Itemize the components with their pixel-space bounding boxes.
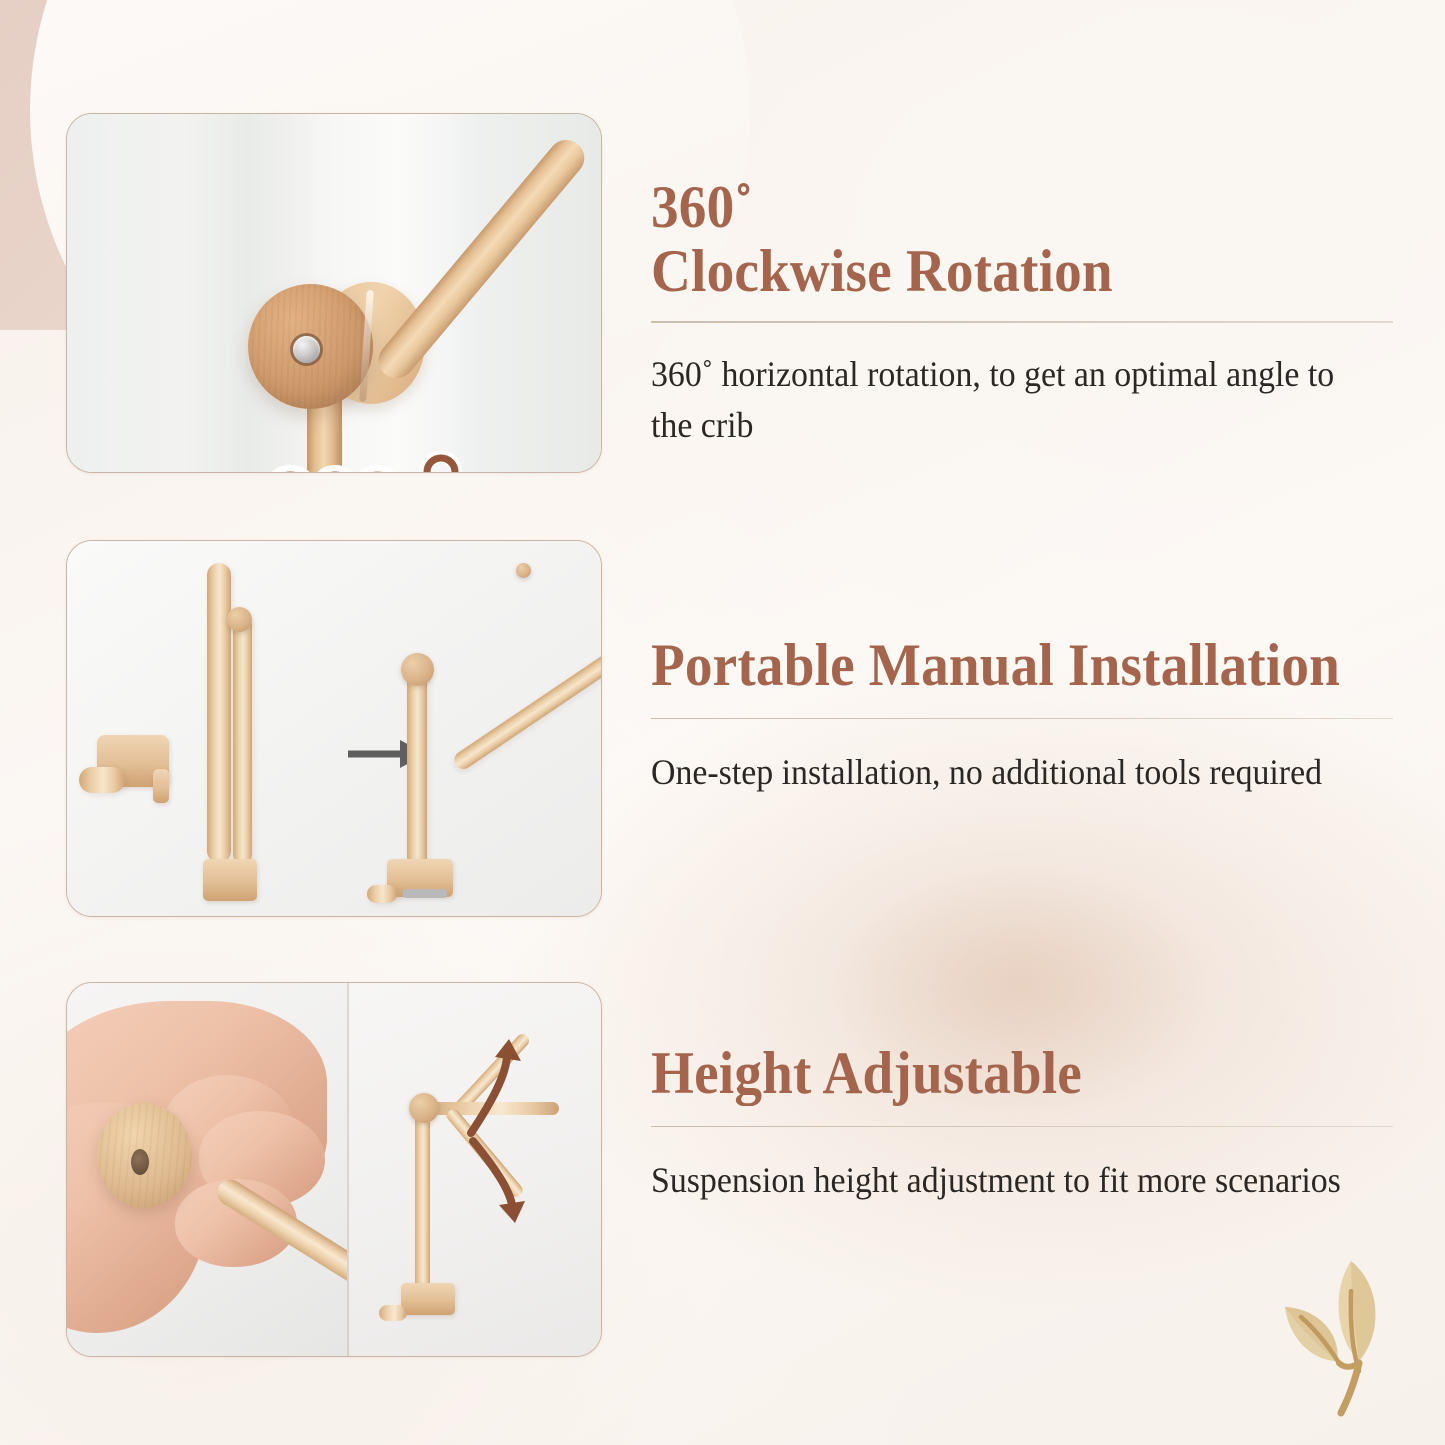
leaf-sprig-icon bbox=[1255, 1255, 1425, 1435]
vertical-rod-part bbox=[207, 563, 231, 863]
feature-text-height: Height Adjustable Suspension height adju… bbox=[651, 1042, 1393, 1206]
horizontal-rod-part bbox=[233, 616, 252, 864]
badge-360-rotation: 360 360 bbox=[255, 444, 490, 472]
assembled-vertical-rod bbox=[407, 659, 427, 867]
feature-image-card-height bbox=[66, 982, 602, 1357]
assembled-clamp-knob bbox=[367, 885, 397, 903]
feature-heading-installation: Portable Manual Installation bbox=[651, 634, 1334, 698]
feature-text-installation: Portable Manual Installation One-step in… bbox=[651, 634, 1393, 798]
feature-divider-rotation bbox=[651, 321, 1393, 323]
diagram-clamp-base bbox=[401, 1283, 455, 1315]
infographic-stage: 360 360 360˚ Clockwise Rotation 360˚ hor… bbox=[0, 0, 1445, 1445]
feature-image-card-rotation: 360 360 bbox=[66, 113, 602, 473]
feature-heading-line-1: Portable Manual Installation bbox=[651, 634, 1334, 698]
feature-heading-rotation: 360˚ Clockwise Rotation bbox=[651, 176, 1334, 303]
product-photo-rotation: 360 360 bbox=[67, 114, 601, 472]
feature-heading-height: Height Adjustable bbox=[651, 1042, 1334, 1106]
assembled-joint-hub bbox=[401, 653, 434, 686]
feature-description-rotation: 360˚ horizontal rotation, to get an opti… bbox=[651, 349, 1348, 451]
feature-text-rotation: 360˚ Clockwise Rotation 360˚ horizontal … bbox=[651, 176, 1393, 451]
feature-description-height: Suspension height adjustment to fit more… bbox=[651, 1155, 1348, 1206]
feature-divider-height bbox=[651, 1126, 1393, 1128]
product-photo-height bbox=[67, 983, 601, 1356]
parts-clamp-base bbox=[203, 859, 257, 901]
leaf-sprig-decoration bbox=[1255, 1255, 1425, 1435]
feature-heading-line-1: 360˚ bbox=[651, 176, 1334, 240]
feature-heading-line-2: Clockwise Rotation bbox=[651, 240, 1334, 304]
photo-panel-hand bbox=[67, 983, 347, 1356]
swing-arrows-icon bbox=[433, 1035, 563, 1225]
product-photo-installation bbox=[67, 541, 601, 916]
diagram-vertical-rod bbox=[415, 1103, 430, 1293]
feature-description-installation: One-step installation, no additional too… bbox=[651, 747, 1348, 798]
badge-360-number: 360 bbox=[269, 455, 399, 472]
feature-divider-installation bbox=[651, 718, 1393, 720]
feature-heading-line-1: Height Adjustable bbox=[651, 1042, 1334, 1106]
knob-hole bbox=[131, 1149, 149, 1175]
clamp-knob-part bbox=[79, 767, 125, 793]
feature-image-card-installation bbox=[66, 540, 602, 917]
diagram-clamp-knob bbox=[379, 1305, 407, 1321]
clamp-foot-part bbox=[153, 769, 169, 803]
photo-panel-divider bbox=[347, 983, 349, 1356]
hub-screw bbox=[293, 336, 320, 363]
clamp-screw-bar bbox=[403, 889, 447, 898]
rod-ball-end bbox=[227, 607, 252, 632]
photo-panel-diagram bbox=[347, 983, 601, 1356]
assembled-arm-tip bbox=[516, 563, 531, 578]
